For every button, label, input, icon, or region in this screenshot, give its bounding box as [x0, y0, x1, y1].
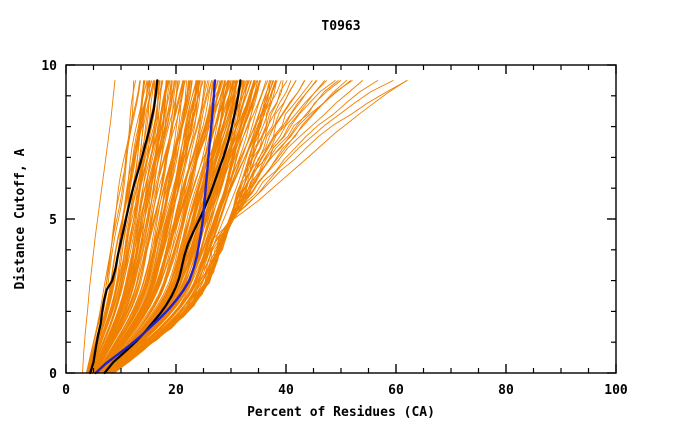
y-tick-label: 5 [49, 213, 57, 228]
y-axis-title: Distance Cutoff, A [13, 148, 28, 289]
chart-title: T0963 [321, 19, 360, 34]
x-tick-label: 0 [62, 383, 70, 398]
prediction-curve-bundle [83, 80, 408, 373]
x-tick-label: 100 [604, 383, 628, 398]
x-tick-label: 80 [498, 383, 514, 398]
x-tick-label: 60 [388, 383, 404, 398]
x-tick-label: 40 [278, 383, 294, 398]
x-tick-label: 20 [168, 383, 184, 398]
x-axis-tick-labels: 020406080100 [62, 383, 628, 398]
y-axis-tick-labels: 0510 [41, 59, 57, 382]
x-axis-title: Percent of Residues (CA) [247, 405, 435, 420]
plot-figure: 020406080100 0510 T0963 Percent of Resid… [0, 0, 680, 440]
y-tick-label: 0 [49, 367, 57, 382]
y-tick-label: 10 [41, 59, 57, 74]
chart-canvas: 020406080100 0510 T0963 Percent of Resid… [0, 0, 680, 440]
